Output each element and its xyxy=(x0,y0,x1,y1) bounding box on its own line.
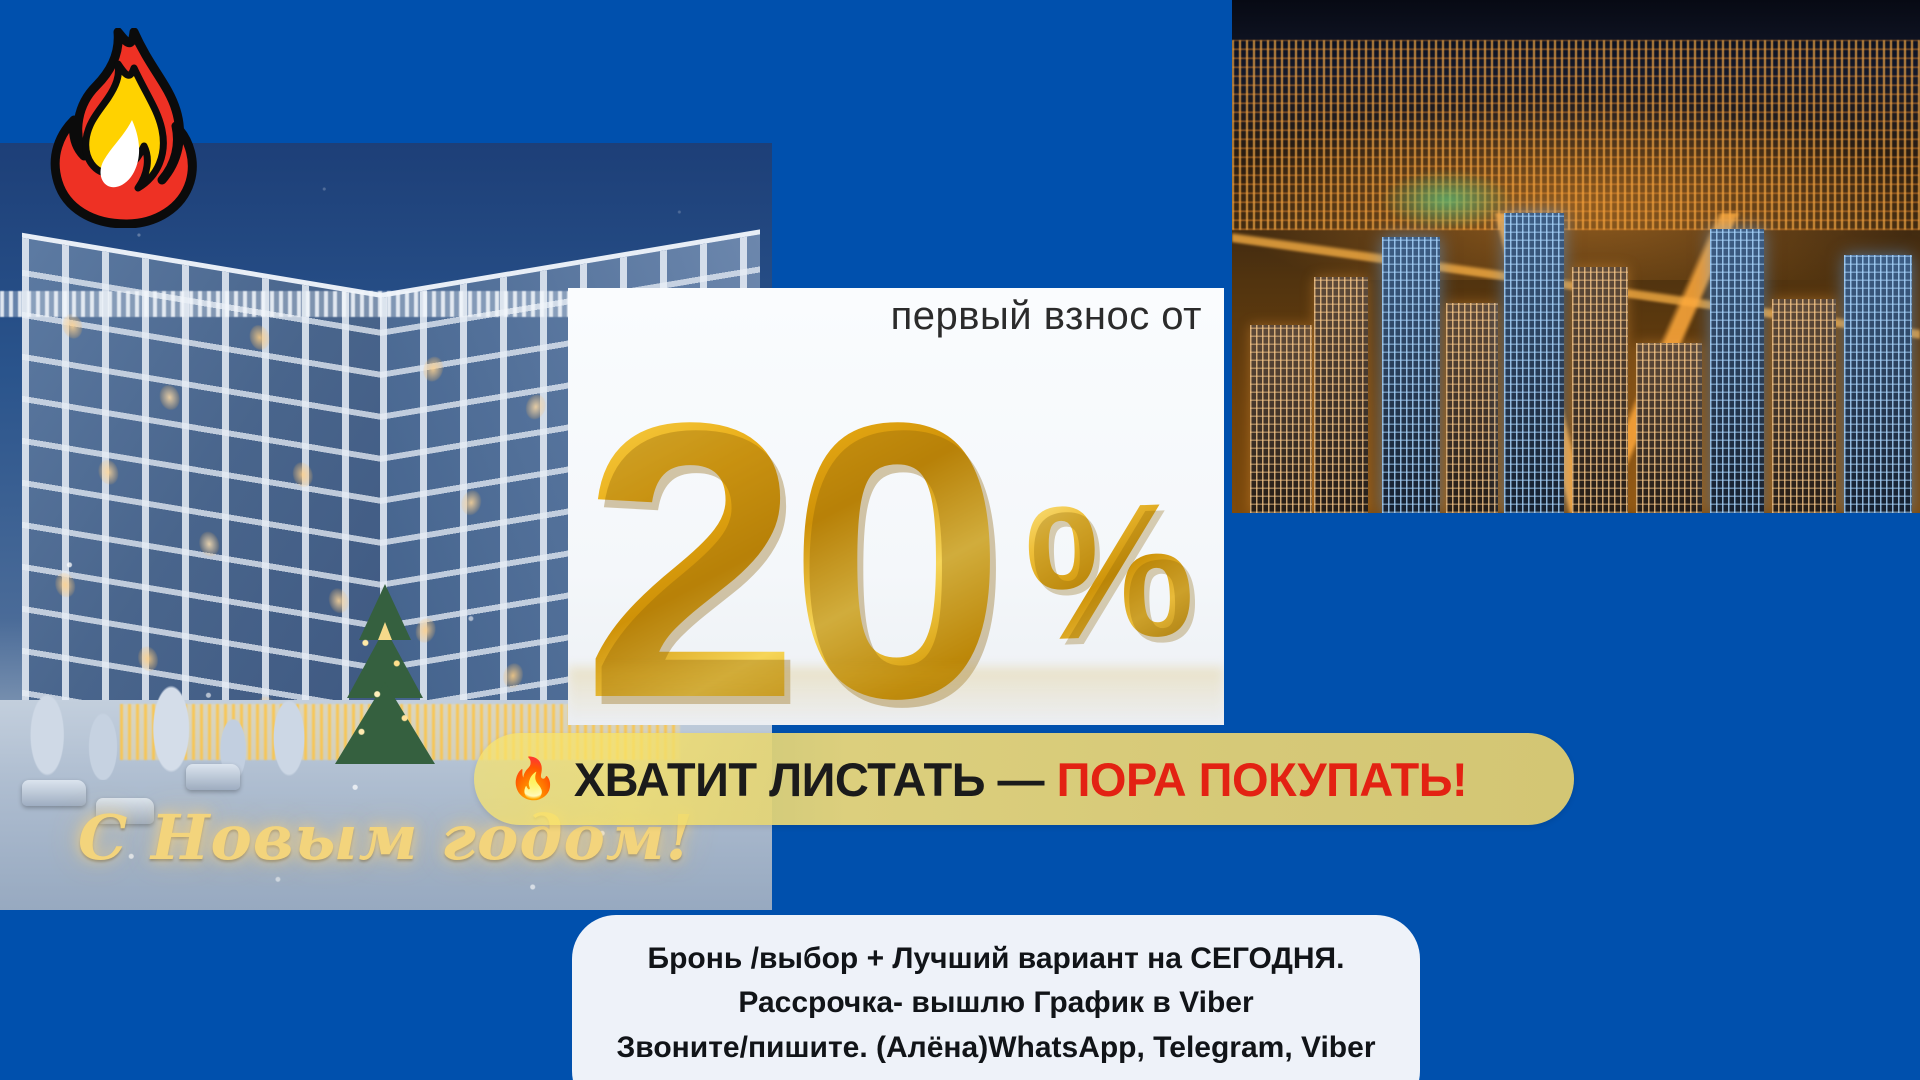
night-city-photo xyxy=(1232,0,1920,513)
offer-percent-sign: % xyxy=(1022,474,1197,670)
high-rise-building xyxy=(1504,213,1564,513)
contact-line-1: Бронь /выбор + Лучший вариант на СЕГОДНЯ… xyxy=(598,937,1394,981)
cta-text-black: ХВАТИТ ЛИСТАТЬ — xyxy=(574,753,1044,806)
high-rise-building xyxy=(1314,277,1368,513)
cta-text-red: ПОРА ПОКУПАТЬ! xyxy=(1057,753,1468,806)
high-rise-building xyxy=(1844,255,1912,513)
christmas-tree xyxy=(330,575,440,790)
high-rise-building xyxy=(1710,229,1764,513)
contact-line-3: Звоните/пишите. (Алёна)WhatsApp, Telegra… xyxy=(598,1026,1394,1070)
parked-car xyxy=(186,764,240,790)
contact-card: Бронь /выбор + Лучший вариант на СЕГОДНЯ… xyxy=(572,915,1420,1080)
fire-icon xyxy=(38,28,208,228)
cta-banner-text: ХВАТИТ ЛИСТАТЬ — ПОРА ПОКУПАТЬ! xyxy=(574,752,1467,807)
offer-panel: первый взнос от 20 % xyxy=(568,288,1224,725)
high-rise-building xyxy=(1382,237,1440,513)
high-rise-building xyxy=(1250,325,1312,513)
high-rise-building xyxy=(1772,299,1836,513)
cta-banner[interactable]: 🔥 ХВАТИТ ЛИСТАТЬ — ПОРА ПОКУПАТЬ! xyxy=(474,733,1574,825)
high-rise-building xyxy=(1572,267,1628,513)
high-rise-building xyxy=(1446,303,1498,513)
fire-icon: 🔥 xyxy=(508,759,558,799)
contact-line-2: Рассрочка- вышлю График в Viber xyxy=(598,981,1394,1025)
high-rise-building xyxy=(1636,343,1702,513)
promo-canvas: С Новым годом! первый взнос от 20 % 🔥 ХВ… xyxy=(0,0,1920,1080)
tree-ornaments xyxy=(336,595,434,766)
gold-reflection xyxy=(568,667,1224,725)
snow-covered-trees xyxy=(10,630,320,780)
